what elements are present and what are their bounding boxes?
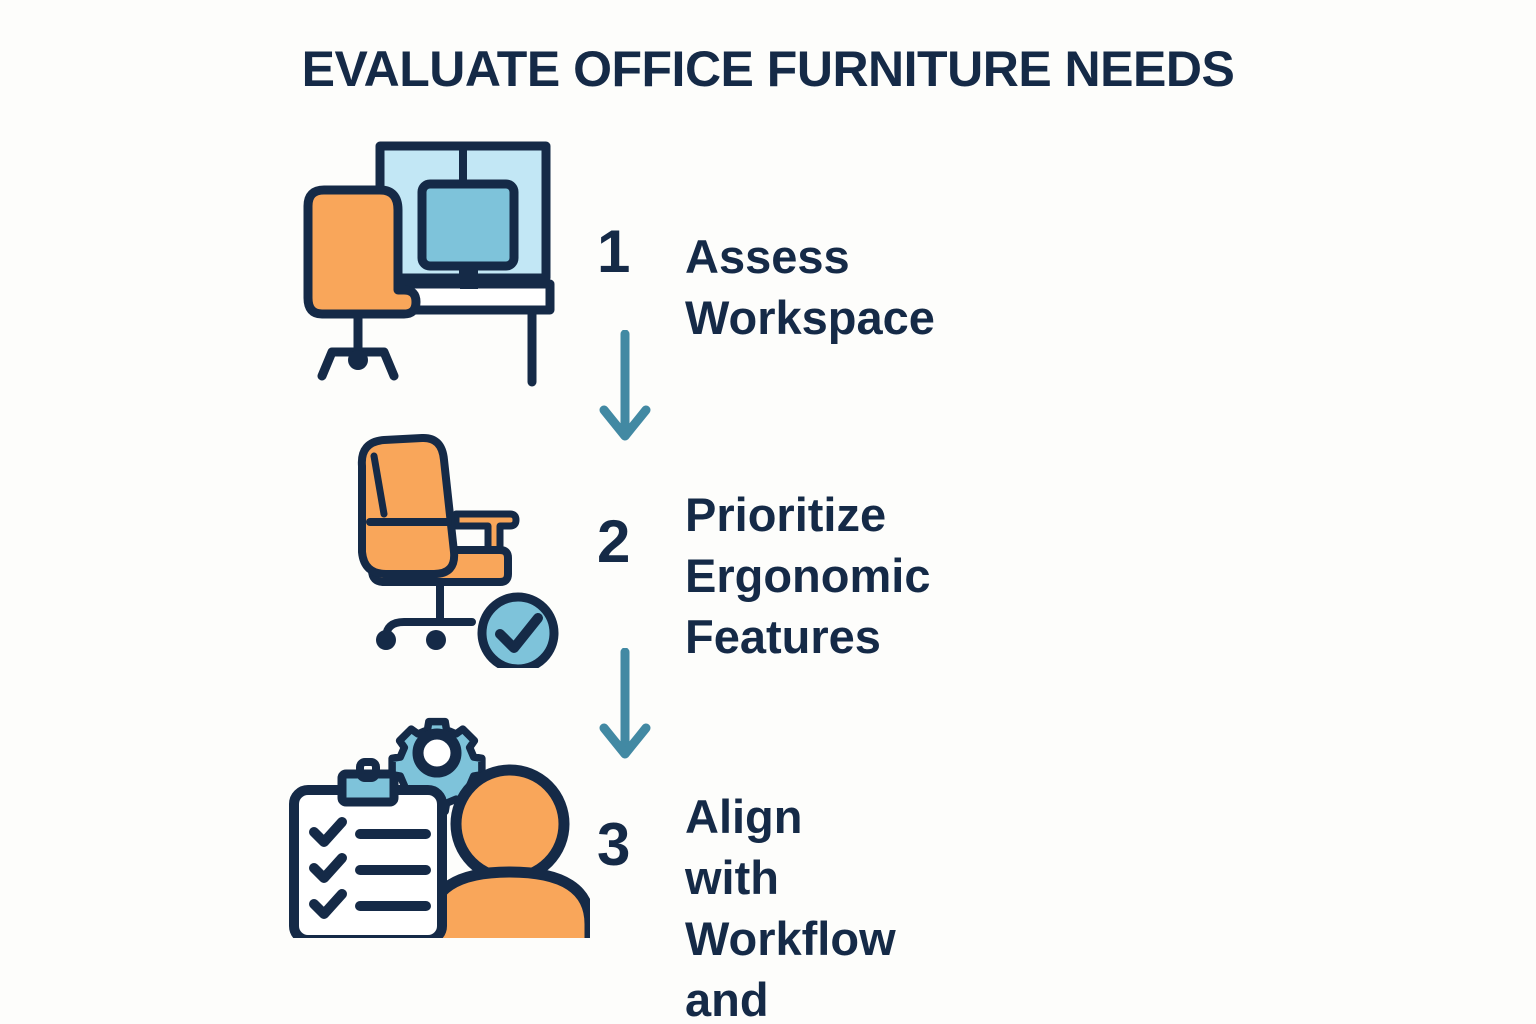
step-1-number: 1 xyxy=(597,222,630,282)
step-2-number: 2 xyxy=(597,512,630,572)
step-2-label: Prioritize Ergonomic Features xyxy=(685,484,930,667)
arrow-step-1-to-2 xyxy=(592,330,662,446)
page-title: EVALUATE OFFICE FURNITURE NEEDS xyxy=(0,40,1536,98)
workspace-desk-monitor-chair-icon xyxy=(296,132,564,388)
ergonomic-chair-check-icon xyxy=(344,432,576,668)
infographic-page: EVALUATE OFFICE FURNITURE NEEDS xyxy=(0,0,1536,1024)
clipboard-gear-person-icon xyxy=(284,702,590,938)
arrow-step-2-to-3 xyxy=(592,648,662,764)
step-1-label: Assess Workspace xyxy=(685,226,935,348)
step-3-label: Align with Workflow and Culture xyxy=(685,786,896,1024)
step-3-number: 3 xyxy=(597,815,630,875)
